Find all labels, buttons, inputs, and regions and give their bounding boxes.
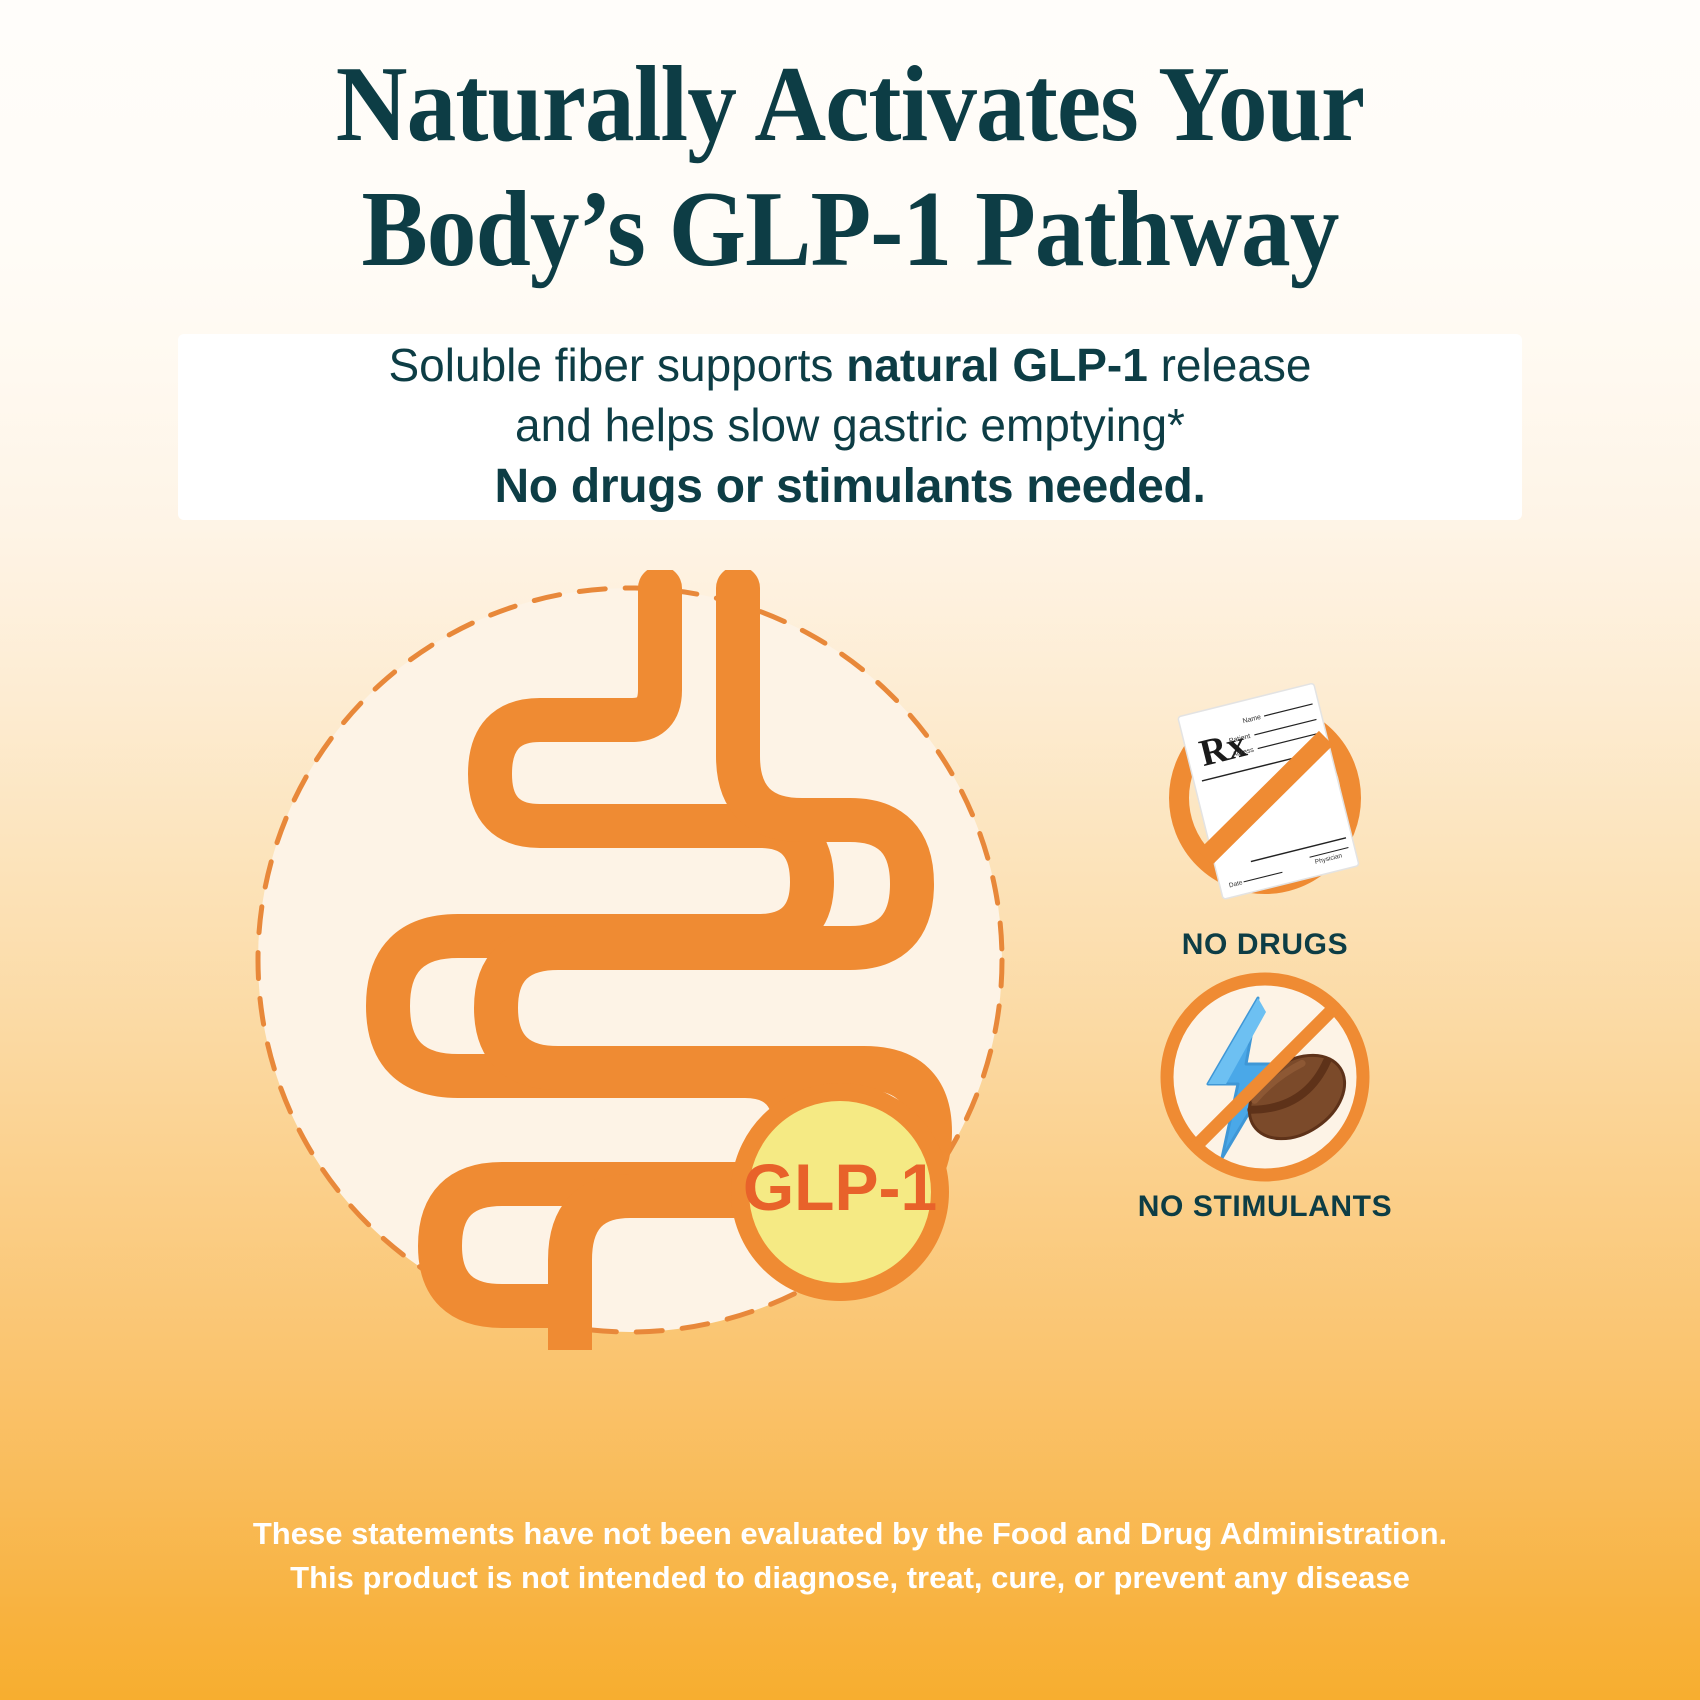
- lightning-coffee-prohibited-icon: [1110, 972, 1420, 1182]
- glp1-badge-label: GLP‑1: [743, 1150, 937, 1224]
- disclaimer-line-1: These statements have not been evaluated…: [0, 1512, 1700, 1556]
- subtitle-line-2: and helps slow gastric emptying*: [515, 396, 1185, 456]
- benefits-column: Rx Name Patient Adress Physician: [1110, 660, 1420, 1224]
- prescription-pad-prohibited-icon: Rx Name Patient Adress Physician: [1110, 660, 1420, 920]
- subtitle-card: Soluble fiber supports natural GLP‑1 rel…: [178, 334, 1522, 520]
- subtitle-line-1-pre: Soluble fiber supports: [389, 339, 847, 391]
- subtitle-line-1-post: release: [1148, 339, 1312, 391]
- disclaimer-line-2: This product is not intended to diagnose…: [0, 1556, 1700, 1600]
- subtitle-line-1-bold: natural GLP‑1: [846, 339, 1148, 391]
- fda-disclaimer: These statements have not been evaluated…: [0, 1512, 1700, 1600]
- subtitle-line-1: Soluble fiber supports natural GLP‑1 rel…: [389, 336, 1312, 396]
- benefit-caption-no-stimulants: NO STIMULANTS: [1110, 1190, 1420, 1224]
- intestine-svg: GLP‑1: [240, 570, 1020, 1350]
- subtitle-line-3: No drugs or stimulants needed.: [494, 456, 1205, 518]
- intestine-illustration: GLP‑1: [240, 570, 1020, 1350]
- benefit-caption-no-drugs: NO DRUGS: [1110, 928, 1420, 962]
- glp1-badge: GLP‑1: [740, 1092, 940, 1292]
- benefit-no-stimulants: NO STIMULANTS: [1110, 972, 1420, 1224]
- page-title: Naturally Activates Your Body’s GLP‑1 Pa…: [68, 42, 1632, 293]
- benefit-no-drugs: Rx Name Patient Adress Physician: [1110, 660, 1420, 962]
- infographic-canvas: Naturally Activates Your Body’s GLP‑1 Pa…: [0, 0, 1700, 1700]
- title-line-1: Naturally Activates Your: [68, 42, 1632, 167]
- title-line-2: Body’s GLP‑1 Pathway: [68, 167, 1632, 292]
